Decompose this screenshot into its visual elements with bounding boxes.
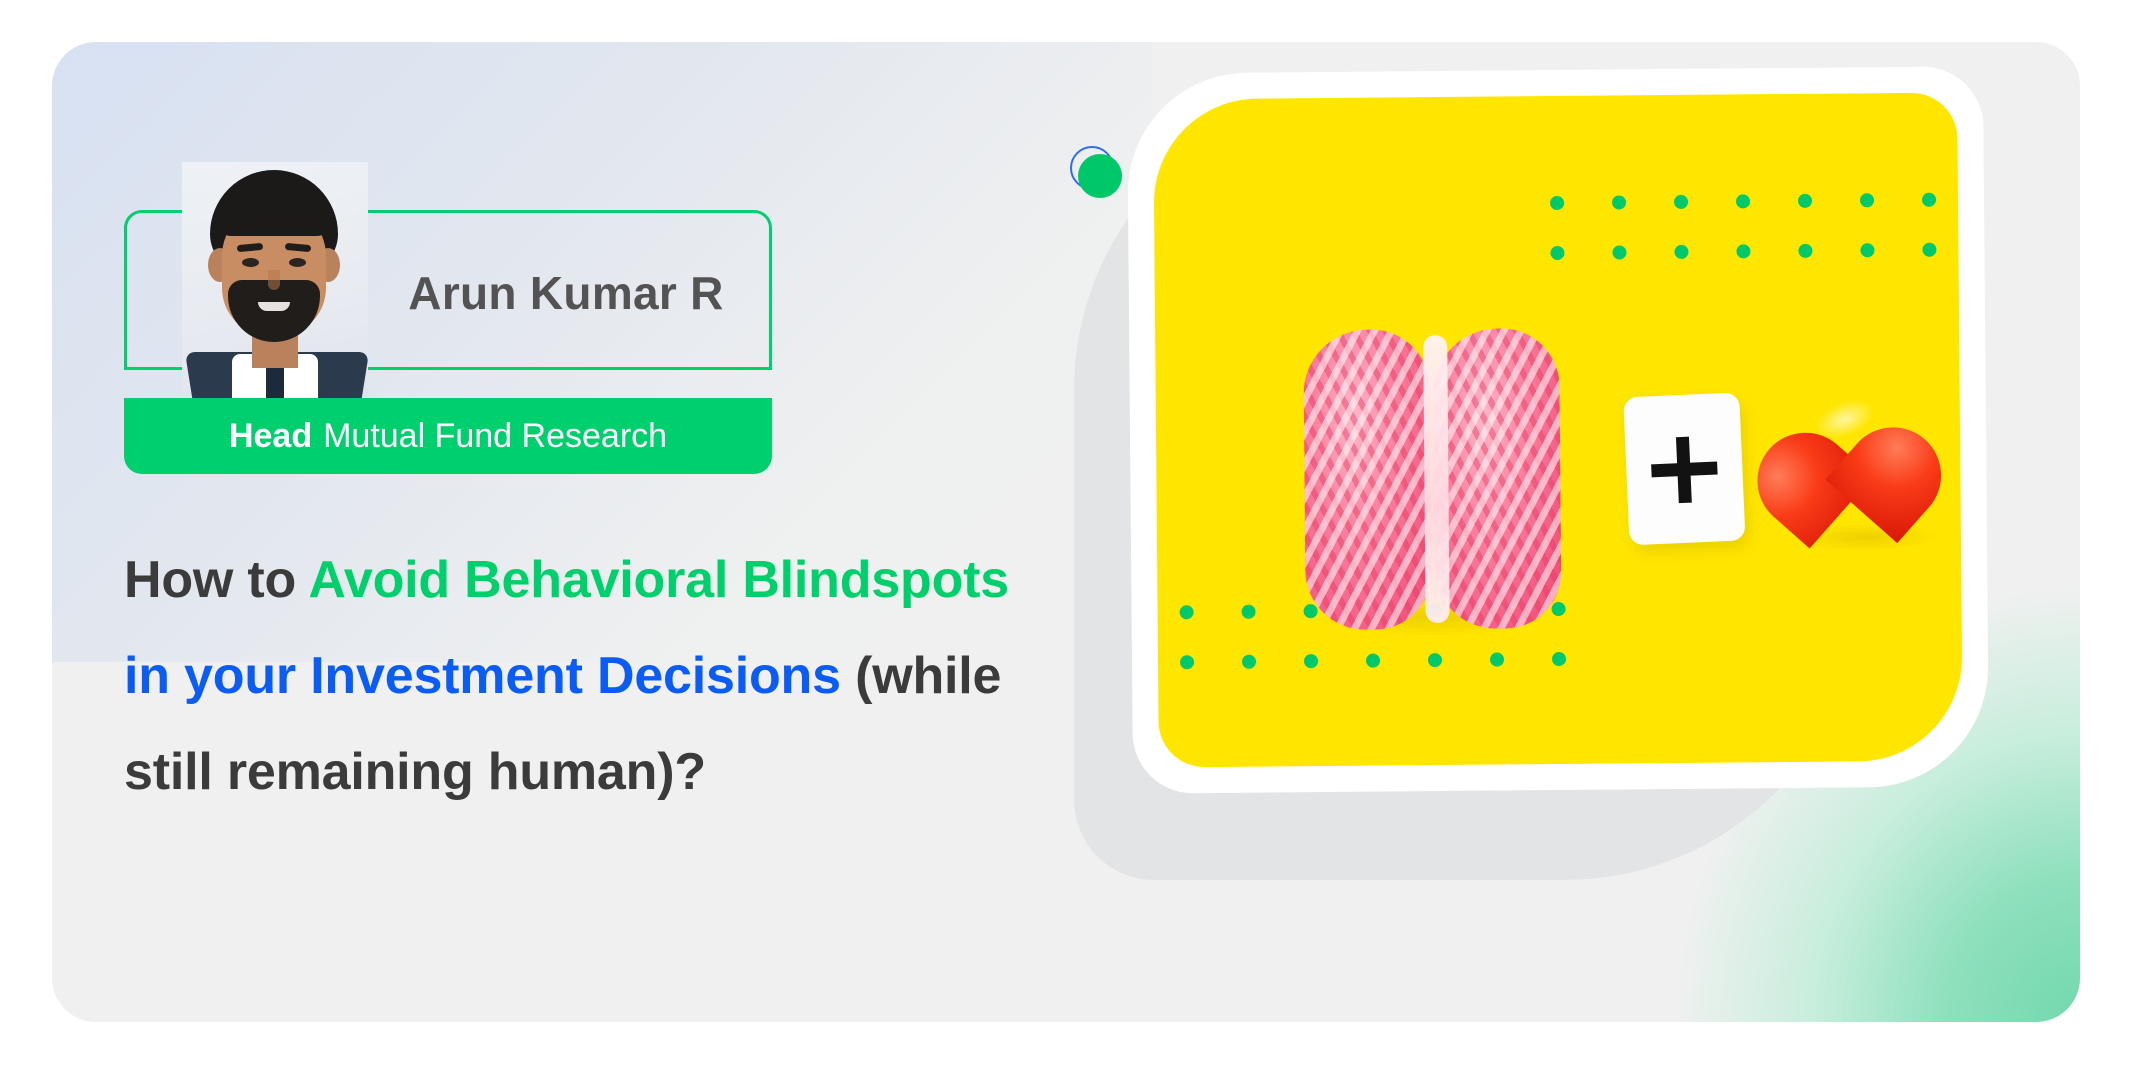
dot [1490, 652, 1504, 666]
dot [1428, 653, 1442, 667]
portrait-mouth [258, 302, 290, 311]
portrait-eye-left [242, 258, 259, 267]
dot [1736, 194, 1750, 208]
brain-hemisphere-left [1303, 329, 1432, 630]
author-portrait [182, 162, 368, 410]
dot [1922, 193, 1936, 207]
author-role-rest: Mutual Fund Research [323, 417, 667, 456]
plus-card-icon [1623, 392, 1745, 545]
portrait-eye-right [289, 258, 306, 267]
dot [1860, 243, 1874, 257]
author-role-bold: Head [229, 417, 312, 456]
dot [1242, 605, 1256, 619]
banner-canvas: Arun Kumar R Head Mutual Fund Research [52, 42, 2080, 1022]
dot [1304, 654, 1318, 668]
dot-grid-top-right [1550, 193, 1937, 260]
yellow-card-frame [1127, 66, 1989, 793]
author-role-bar: Head Mutual Fund Research [124, 398, 772, 474]
brain-fissure [1423, 335, 1450, 623]
dot [1366, 654, 1380, 668]
dot [1798, 194, 1812, 208]
dot [1736, 244, 1750, 258]
dot [1180, 605, 1194, 619]
dot [1612, 195, 1626, 209]
dot [1798, 244, 1812, 258]
dot [1242, 655, 1256, 669]
portrait-nose [268, 270, 280, 290]
headline-part-3: in your Investment Decisions [124, 647, 841, 705]
artwork-panel [1012, 42, 2080, 1022]
dot [1674, 245, 1688, 259]
left-content-column: Arun Kumar R Head Mutual Fund Research [52, 42, 1052, 1022]
plus-vertical-bar [1676, 437, 1692, 504]
heart-icon [1772, 376, 1949, 546]
yellow-card [1153, 93, 1963, 768]
author-name: Arun Kumar R [357, 213, 775, 373]
headline-part-1: How to [124, 551, 308, 609]
dot [1552, 652, 1566, 666]
dot [1674, 195, 1688, 209]
headline-part-2: Avoid Behavioral Blindspots [308, 551, 1009, 609]
dot [1550, 246, 1564, 260]
page-title: How to Avoid Behavioral Blindspots in yo… [124, 532, 1014, 820]
brain-hemisphere-right [1433, 328, 1562, 629]
portrait-fringe [216, 184, 332, 236]
dot [1922, 243, 1936, 257]
dot [1550, 196, 1564, 210]
dot [1612, 245, 1626, 259]
dot [1860, 193, 1874, 207]
green-circle-icon [1078, 154, 1122, 198]
dot [1180, 655, 1194, 669]
